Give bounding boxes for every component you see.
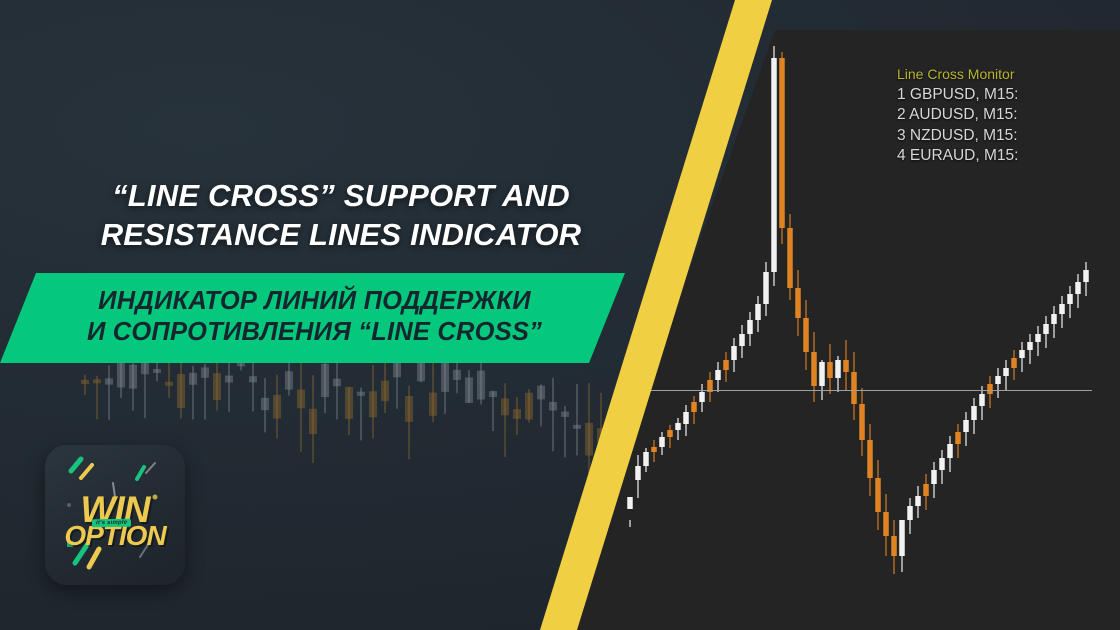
monitor-row-4: 4 EURAUD, M15: (897, 146, 1018, 166)
support-resistance-line (648, 390, 1092, 391)
subtitle-banner: ИНДИКАТОР ЛИНИЙ ПОДДЕРЖКИ И СОПРОТИВЛЕНИ… (0, 273, 625, 363)
logo-tagline: it's simple (92, 519, 131, 528)
monitor-row-3: 3 NZDUSD, M15: (897, 126, 1018, 146)
monitor-row-2: 2 AUDUSD, M15: (897, 105, 1018, 125)
monitor-row-1: 1 GBPUSD, M15: (897, 85, 1018, 105)
winoption-logo: WIN OPTION it's simple (45, 445, 185, 585)
subtitle-text: ИНДИКАТОР ЛИНИЙ ПОДДЕРЖКИ И СОПРОТИВЛЕНИ… (87, 286, 542, 348)
monitor-title: Line Cross Monitor (897, 66, 1018, 82)
page-title: “LINE CROSS” SUPPORT AND RESISTANCE LINE… (56, 176, 626, 255)
line-cross-monitor-panel: Line Cross Monitor 1 GBPUSD, M15: 2 AUDU… (897, 66, 1018, 166)
promo-banner: Line Cross Monitor 1 GBPUSD, M15: 2 AUDU… (0, 0, 1120, 630)
